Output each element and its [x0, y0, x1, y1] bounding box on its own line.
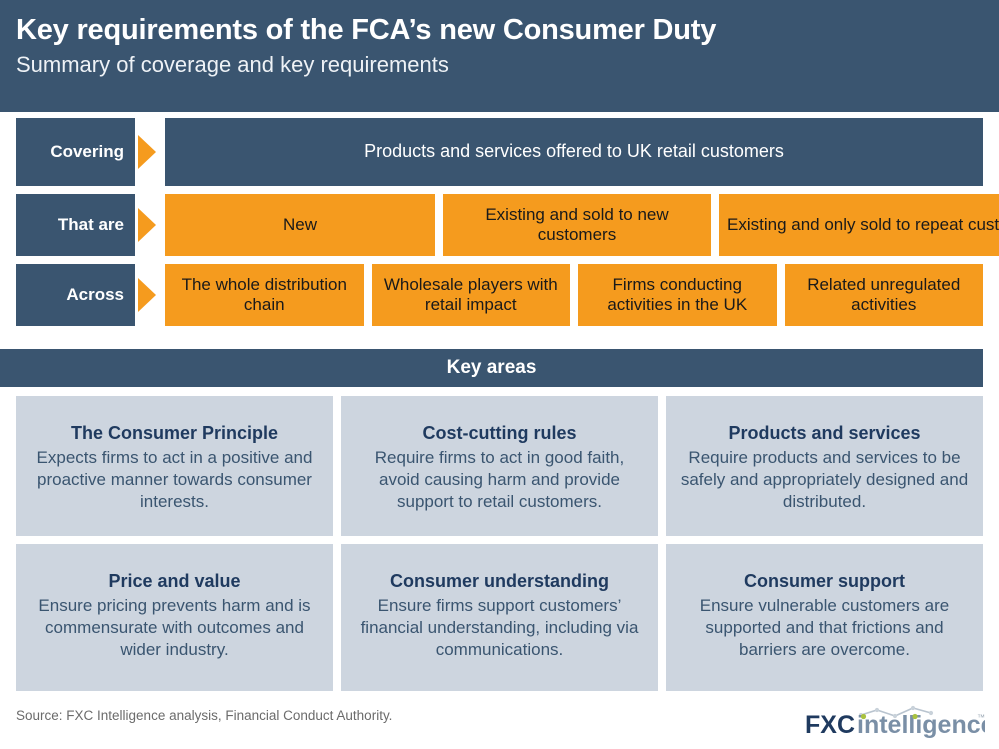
footer: Source: FXC Intelligence analysis, Finan…	[0, 700, 999, 749]
row-that-are-cells: New Existing and sold to new customers E…	[165, 194, 999, 256]
key-areas-row-1: The Consumer Principle Expects firms to …	[16, 396, 983, 536]
page-title: Key requirements of the FCA’s new Consum…	[16, 14, 999, 47]
key-area-title: Price and value	[30, 570, 319, 593]
logo-trademark: ™	[977, 713, 985, 722]
arrow-right-icon	[135, 264, 165, 326]
key-area-body: Require products and services to be safe…	[680, 447, 969, 513]
key-area-body: Ensure firms support customers’ financia…	[355, 595, 644, 661]
row-that-are: That are New Existing and sold to new cu…	[0, 194, 999, 256]
key-area-title: Products and services	[680, 422, 969, 445]
arrow-right-icon	[135, 194, 165, 256]
key-area-card: Consumer understanding Ensure firms supp…	[341, 544, 658, 691]
arrow-right-icon	[135, 118, 165, 186]
key-area-title: Consumer understanding	[355, 570, 644, 593]
key-area-title: The Consumer Principle	[30, 422, 319, 445]
key-area-card: Price and value Ensure pricing prevents …	[16, 544, 333, 691]
row-covering: Covering Products and services offered t…	[0, 118, 999, 186]
logo-dot-green-2	[912, 714, 917, 719]
logo-text-fxc: FXC	[805, 711, 855, 738]
row-across: Across The whole distribution chain Whol…	[0, 264, 999, 326]
key-areas-banner: Key areas	[0, 349, 983, 387]
key-area-card: Cost-cutting rules Require firms to act …	[341, 396, 658, 536]
key-areas-row-2: Price and value Ensure pricing prevents …	[16, 544, 983, 691]
source-note: Source: FXC Intelligence analysis, Finan…	[16, 708, 392, 723]
key-area-card: Products and services Require products a…	[666, 396, 983, 536]
row-label-across: Across	[16, 264, 135, 326]
logo-dot-green-1	[861, 714, 866, 719]
infographic-page: Key requirements of the FCA’s new Consum…	[0, 0, 999, 749]
row-across-cells: The whole distribution chain Wholesale p…	[165, 264, 999, 326]
key-area-card: The Consumer Principle Expects firms to …	[16, 396, 333, 536]
header-banner: Key requirements of the FCA’s new Consum…	[0, 0, 999, 112]
key-area-title: Cost-cutting rules	[355, 422, 644, 445]
key-area-title: Consumer support	[680, 570, 969, 593]
cell-across-1: The whole distribution chain	[165, 264, 364, 326]
key-area-body: Ensure pricing prevents harm and is comm…	[30, 595, 319, 661]
cell-that-are-2: Existing and sold to new customers	[443, 194, 711, 256]
page-subtitle: Summary of coverage and key requirements	[16, 52, 999, 77]
cell-that-are-3: Existing and only sold to repeat custome…	[719, 194, 999, 256]
coverage-rows: Covering Products and services offered t…	[0, 118, 999, 334]
logo-graphic: FXC intelligence ™	[805, 704, 985, 738]
key-areas-grid: The Consumer Principle Expects firms to …	[16, 396, 983, 691]
cell-that-are-1: New	[165, 194, 435, 256]
row-covering-cells: Products and services offered to UK reta…	[165, 118, 999, 186]
cell-across-2: Wholesale players with retail impact	[372, 264, 571, 326]
key-area-card: Consumer support Ensure vulnerable custo…	[666, 544, 983, 691]
logo-text-intelligence: intelligence	[857, 711, 985, 738]
key-area-body: Ensure vulnerable customers are supporte…	[680, 595, 969, 661]
key-area-body: Expects firms to act in a positive and p…	[30, 447, 319, 513]
cell-across-4: Related unregulated activities	[785, 264, 984, 326]
row-label-that-are: That are	[16, 194, 135, 256]
key-area-body: Require firms to act in good faith, avoi…	[355, 447, 644, 513]
fxc-intelligence-logo: FXC intelligence ™	[805, 704, 985, 738]
cell-covering-1: Products and services offered to UK reta…	[165, 118, 983, 186]
cell-across-3: Firms conducting activities in the UK	[578, 264, 777, 326]
row-label-covering: Covering	[16, 118, 135, 186]
